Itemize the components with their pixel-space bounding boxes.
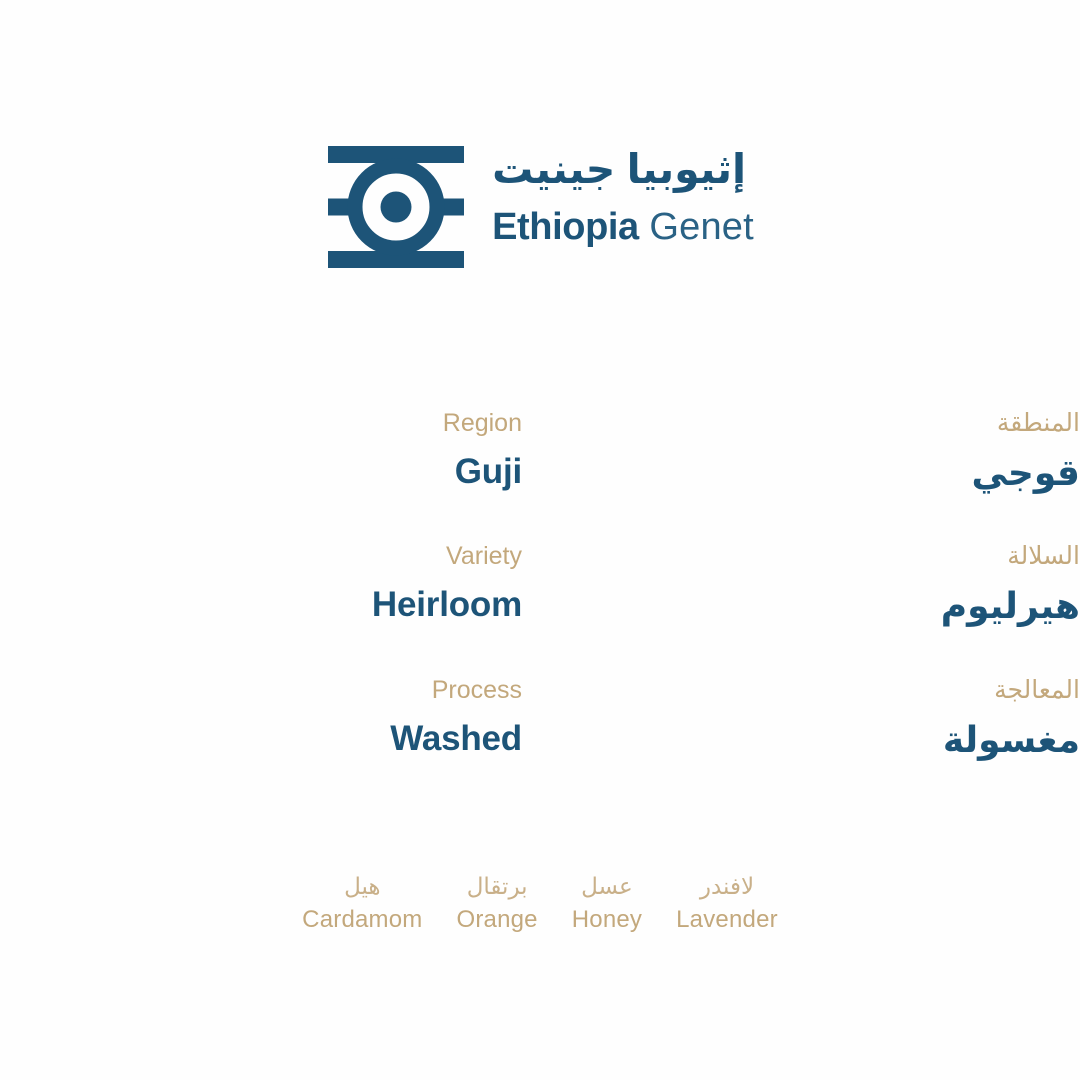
flavour-notes-list: لافندر Lavender عسل Honey برتقال Orange … — [0, 872, 1080, 935]
flavour-note-arabic: عسل — [581, 872, 633, 901]
attribute-row-region: Region Guji المنطقة قوجي — [0, 408, 1080, 493]
brand-lockup: إثيوبيا جينيت Ethiopia Genet — [0, 144, 1080, 270]
brand-logo-icon — [326, 144, 466, 270]
attribute-column-arabic: المنطقة قوجي — [558, 408, 1080, 493]
attribute-label-ar: المعالجة — [994, 675, 1080, 705]
attribute-column-english: Process Washed — [0, 675, 522, 759]
attribute-value-ar: مغسولة — [943, 719, 1080, 760]
flavour-note-english: Cardamom — [302, 905, 422, 935]
attribute-value-en: Heirloom — [372, 585, 522, 625]
brand-name-arabic: إثيوبيا جينيت — [492, 148, 746, 191]
attribute-value-ar: قوجي — [971, 452, 1080, 493]
flavour-note-item: هيل Cardamom — [302, 872, 422, 935]
attribute-label-en: Variety — [446, 541, 522, 571]
brand-name-english: Ethiopia Genet — [492, 208, 754, 248]
attribute-label-en: Region — [443, 408, 522, 438]
brand-name-english-secondary: Genet — [649, 206, 754, 248]
brand-name-block: إثيوبيا جينيت Ethiopia Genet — [492, 144, 754, 248]
attribute-column-english: Region Guji — [0, 408, 522, 492]
attribute-label-ar: المنطقة — [997, 408, 1080, 438]
attribute-column-english: Variety Heirloom — [0, 541, 522, 625]
attribute-row-process: Process Washed المعالجة مغسولة — [0, 675, 1080, 760]
flavour-note-arabic: برتقال — [467, 872, 528, 901]
attribute-list: Region Guji المنطقة قوجي Variety Heirloo… — [0, 408, 1080, 760]
flavour-note-item: برتقال Orange — [456, 872, 537, 935]
flavour-note-english: Honey — [572, 905, 642, 935]
attribute-label-en: Process — [432, 675, 522, 705]
flavour-note-arabic: لافندر — [700, 872, 754, 901]
coffee-label-card: إثيوبيا جينيت Ethiopia Genet Region Guji… — [0, 0, 1080, 1080]
flavour-note-arabic: هيل — [344, 872, 381, 901]
attribute-label-ar: السلالة — [1007, 541, 1080, 571]
flavour-note-english: Orange — [456, 905, 537, 935]
attribute-value-ar: هيرليوم — [941, 585, 1080, 626]
attribute-column-arabic: السلالة هيرليوم — [558, 541, 1080, 626]
attribute-row-variety: Variety Heirloom السلالة هيرليوم — [0, 541, 1080, 626]
attribute-value-en: Washed — [390, 719, 522, 759]
flavour-note-item: لافندر Lavender — [676, 872, 778, 935]
flavour-note-item: عسل Honey — [572, 872, 642, 935]
flavour-note-english: Lavender — [676, 905, 778, 935]
brand-name-english-primary: Ethiopia — [492, 206, 639, 248]
attribute-column-arabic: المعالجة مغسولة — [558, 675, 1080, 760]
attribute-value-en: Guji — [455, 452, 522, 492]
